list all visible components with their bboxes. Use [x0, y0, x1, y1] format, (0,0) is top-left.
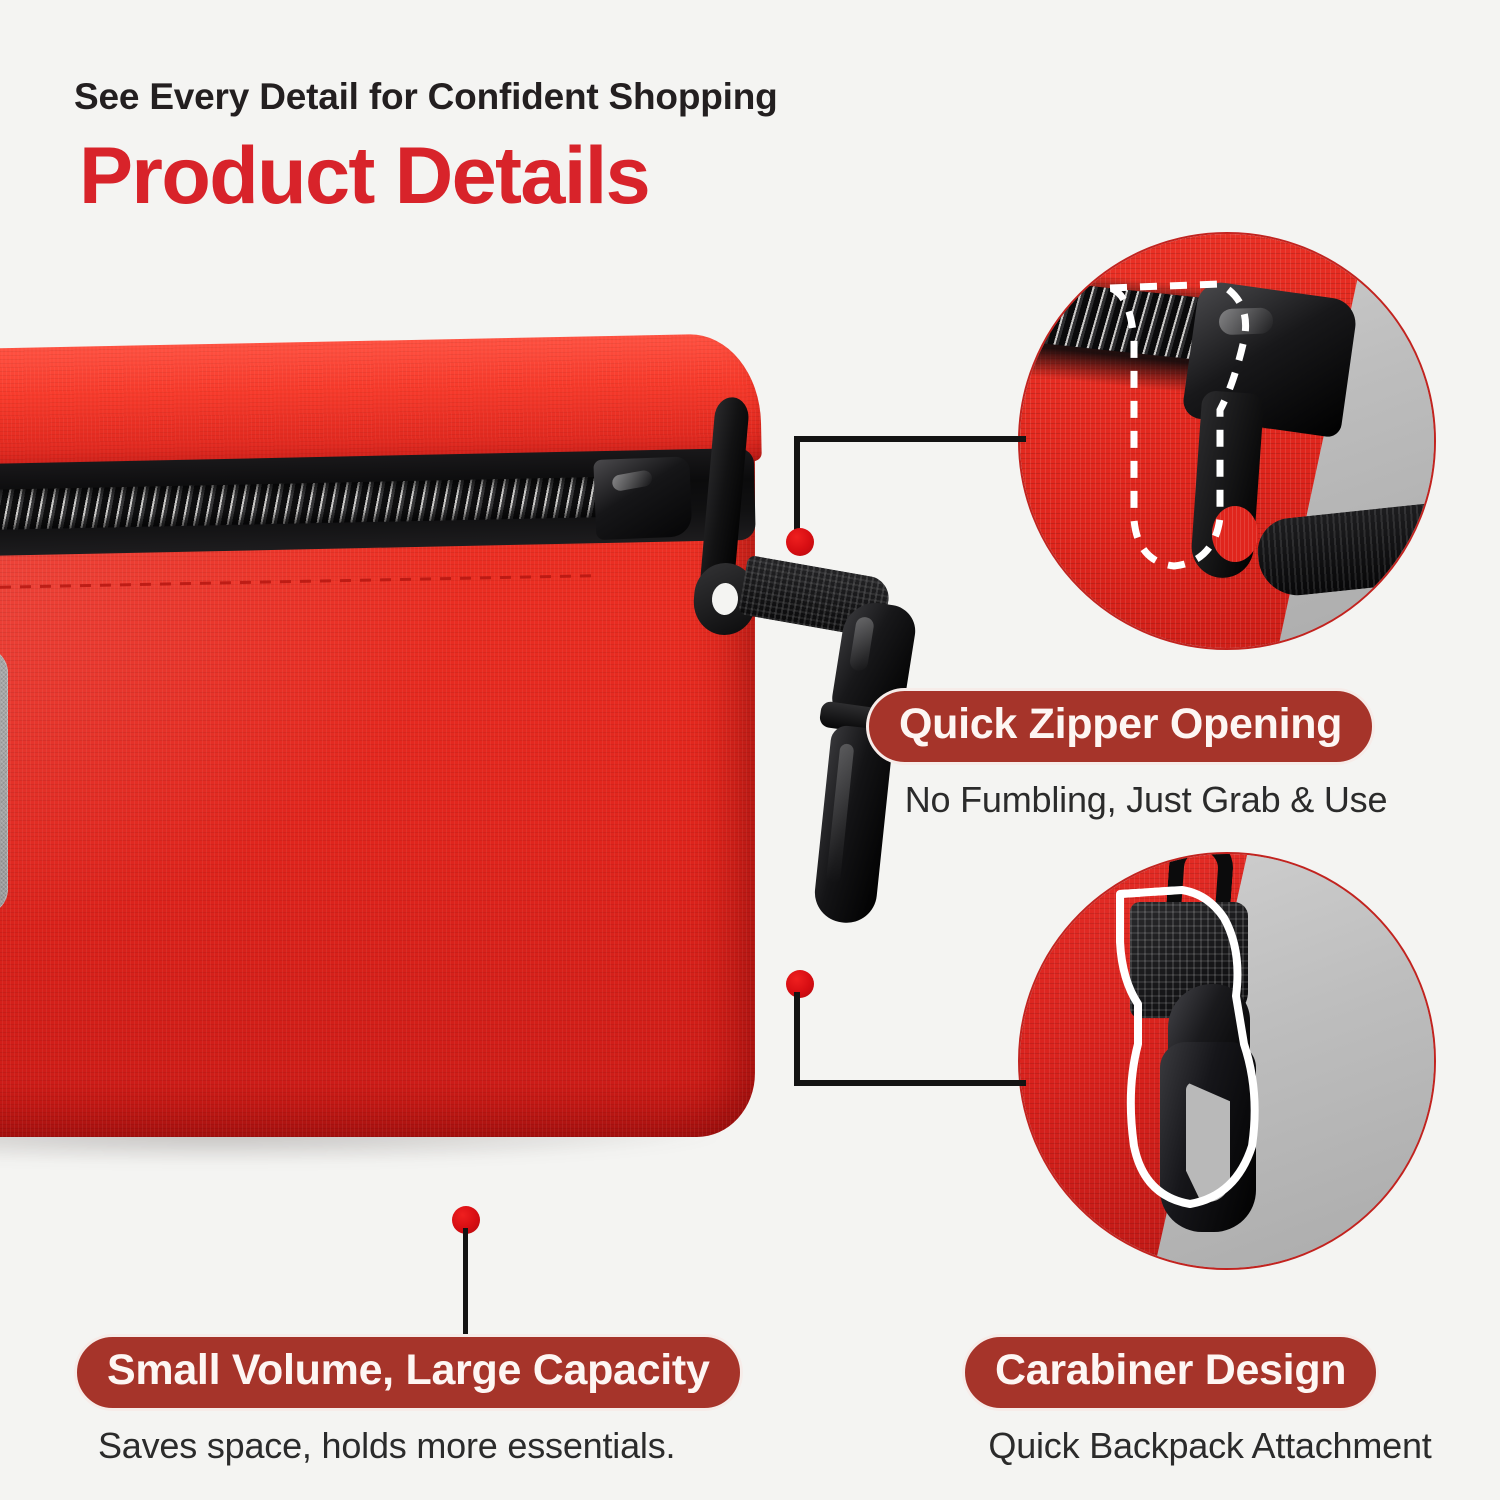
zipper-teeth — [0, 477, 615, 537]
inset-photo-carabiner-closeup — [1018, 852, 1436, 1270]
callout-title-pill: Small Volume, Large Capacity — [74, 1334, 743, 1411]
kicker-text: See Every Detail for Confident Shopping — [74, 76, 778, 118]
callout-subtitle: Saves space, holds more essentials. — [74, 1425, 743, 1467]
inset-zipper-pull-hole — [1212, 506, 1258, 562]
connector-carabiner — [786, 970, 1026, 1090]
page-title: Product Details — [79, 130, 649, 223]
callout-small-volume-large-capacity: Small Volume, Large Capacity Saves space… — [74, 1334, 743, 1467]
callout-carabiner-design: Carabiner Design Quick Backpack Attachme… — [962, 1334, 1458, 1467]
callout-subtitle: No Fumbling, Just Grab & Use — [866, 779, 1426, 821]
callout-title-pill: Carabiner Design — [962, 1334, 1379, 1411]
reflective-patch — [0, 647, 8, 915]
connector-dot-icon — [786, 528, 814, 556]
connector-segment-vertical — [794, 436, 800, 536]
connector-segment-horizontal — [794, 1080, 1026, 1086]
connector-zipper — [786, 436, 1026, 556]
solid-highlight-outline-icon — [1104, 884, 1294, 1214]
connector-segment-vertical — [463, 1228, 468, 1338]
infographic-canvas: See Every Detail for Confident Shopping … — [0, 0, 1500, 1500]
product-photo-first-aid-pouch: ST AID eneral Medi® — [0, 355, 785, 1195]
inset-photo-zipper-closeup — [1018, 232, 1436, 650]
connector-dot-icon — [786, 970, 814, 998]
callout-subtitle: Quick Backpack Attachment — [962, 1425, 1458, 1467]
connector-segment-horizontal — [794, 436, 1026, 442]
callout-quick-zipper-opening: Quick Zipper Opening No Fumbling, Just G… — [866, 688, 1426, 821]
callout-title-pill: Quick Zipper Opening — [866, 688, 1375, 765]
connector-capacity — [452, 1206, 492, 1336]
zipper-slider — [593, 456, 692, 540]
connector-segment-vertical — [794, 992, 800, 1086]
